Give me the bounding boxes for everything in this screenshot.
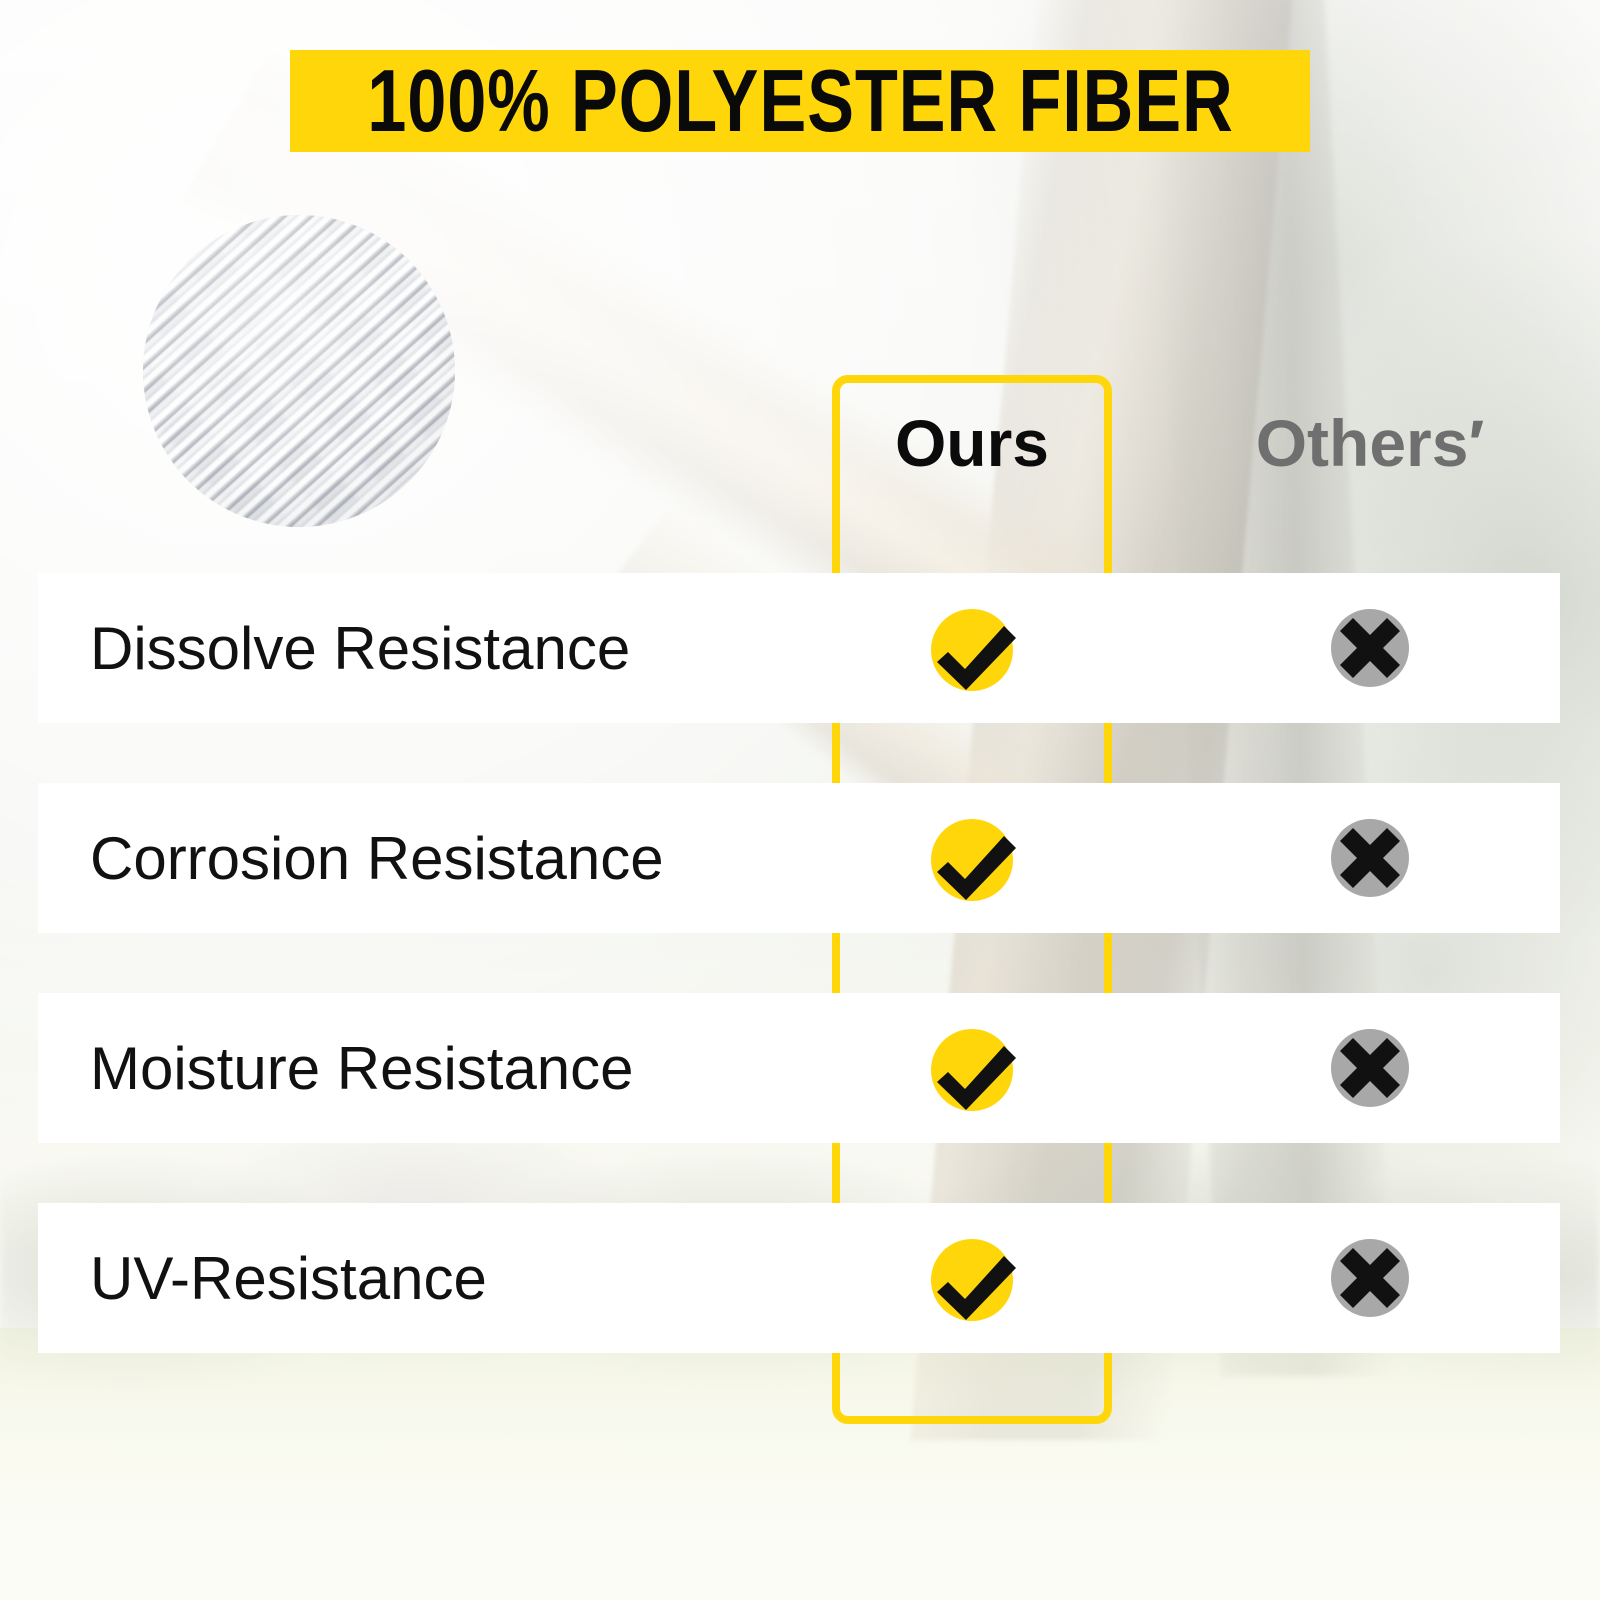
row-label: Moisture Resistance bbox=[90, 993, 634, 1143]
check-circle-icon bbox=[924, 1020, 1020, 1116]
cell-others bbox=[1190, 993, 1550, 1143]
cell-ours bbox=[832, 1203, 1112, 1353]
row-label: Dissolve Resistance bbox=[90, 573, 630, 723]
row-label: Corrosion Resistance bbox=[90, 783, 664, 933]
cross-circle-icon bbox=[1322, 1020, 1418, 1116]
check-circle-icon bbox=[924, 810, 1020, 906]
comparison-table: Dissolve ResistanceCorrosion ResistanceM… bbox=[38, 573, 1560, 1413]
fabric-swatch-shading bbox=[143, 215, 455, 527]
title-banner: 100% POLYESTER FIBER bbox=[290, 50, 1310, 152]
check-circle-icon bbox=[924, 1230, 1020, 1326]
cell-others bbox=[1190, 573, 1550, 723]
fabric-weave-swatch bbox=[143, 215, 455, 527]
comparison-row: Dissolve Resistance bbox=[38, 573, 1560, 723]
cell-ours bbox=[832, 993, 1112, 1143]
cell-others bbox=[1190, 1203, 1550, 1353]
column-header-others: Others′ bbox=[1190, 398, 1550, 488]
cross-circle-icon bbox=[1322, 600, 1418, 696]
comparison-row: Corrosion Resistance bbox=[38, 783, 1560, 933]
column-header-ours: Ours bbox=[832, 398, 1112, 488]
cell-others bbox=[1190, 783, 1550, 933]
check-circle-icon bbox=[924, 600, 1020, 696]
comparison-row: Moisture Resistance bbox=[38, 993, 1560, 1143]
cell-ours bbox=[832, 783, 1112, 933]
cross-circle-icon bbox=[1322, 810, 1418, 906]
row-label: UV-Resistance bbox=[90, 1203, 487, 1353]
cross-circle-icon bbox=[1322, 1230, 1418, 1326]
cell-ours bbox=[832, 573, 1112, 723]
comparison-row: UV-Resistance bbox=[38, 1203, 1560, 1353]
banner-title-text: 100% POLYESTER FIBER bbox=[367, 57, 1233, 145]
